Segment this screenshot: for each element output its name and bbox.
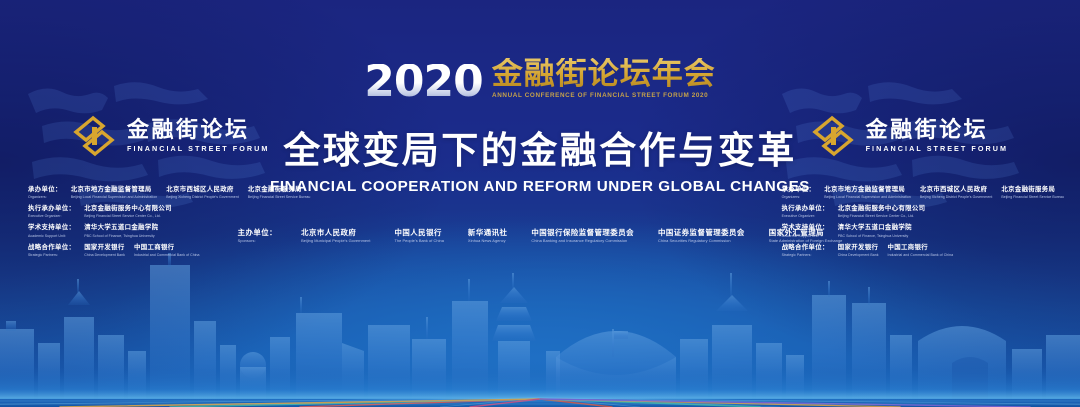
forum-name-cn: 金融街论坛 xyxy=(127,119,269,141)
credit-label-en: Academic Support Unit: xyxy=(28,234,66,238)
credit-entry-cn: 北京金融街服务中心有限公司 xyxy=(838,205,926,213)
credit-entry: 北京金融街服务局Beijing Financial Street Service… xyxy=(248,186,311,199)
credit-row: 战略合作单位：Strategic Partners:国家开发银行China De… xyxy=(28,244,310,257)
credit-label-cn: 承办单位： xyxy=(28,186,62,194)
credit-label-en: Sponsors: xyxy=(238,239,256,244)
credit-entry: 北京市西城区人民政府Beijing Xicheng District Peopl… xyxy=(166,186,239,199)
credit-entry-en: Beijing Xicheng District People's Govern… xyxy=(920,195,993,199)
credit-label-cn: 承办单位： xyxy=(782,186,816,194)
credit-entry-cn: 北京市人民政府 xyxy=(301,229,356,238)
credit-entry-cn: 北京市地方金融监督管理局 xyxy=(71,186,152,194)
credit-label-en: Executive Organizer: xyxy=(782,214,816,218)
event-header-lockup: 2020 金融街论坛年会 ANNUAL CONFERENCE OF FINANC… xyxy=(0,58,1080,100)
credit-entry-en: PBC School of Finance, Tsinghua Universi… xyxy=(838,234,909,238)
credit-entry-en: Beijing Financial Street Service Center … xyxy=(84,214,161,218)
credit-row-label: 承办单位：Organizers: xyxy=(782,186,816,199)
credit-row: 承办单位：Organizers:北京市地方金融监督管理局Beijing Loca… xyxy=(782,186,1064,199)
forum-logo-left: 金融街论坛 FINANCIAL STREET FORUM xyxy=(72,114,269,158)
forum-name-en: FINANCIAL STREET FORUM xyxy=(127,145,269,152)
credit-row-label: 战略合作单位：Strategic Partners: xyxy=(28,244,75,257)
credit-row: 承办单位：Organizers:北京市地方金融监督管理局Beijing Loca… xyxy=(28,186,310,199)
event-year: 2020 xyxy=(364,64,482,100)
credit-entry: 北京金融街服务中心有限公司Beijing Financial Street Se… xyxy=(84,205,172,218)
credit-entry-cn: 国家开发银行 xyxy=(84,244,124,252)
credit-label-cn: 学术支持单位： xyxy=(28,224,75,232)
event-title-en: ANNUAL CONFERENCE OF FINANCIAL STREET FO… xyxy=(492,93,708,99)
credit-entry: 国家开发银行China Development Bank xyxy=(838,244,879,257)
credit-entry: 北京市西城区人民政府Beijing Xicheng District Peopl… xyxy=(920,186,993,199)
credit-row-label: 学术支持单位：Academic Support Unit: xyxy=(28,224,75,237)
credit-label-en: Strategic Partners: xyxy=(782,253,812,257)
credits-block-center: 主办单位：Sponsors:北京市人民政府Beijing Municipal P… xyxy=(238,229,843,244)
credit-entry-cn: 北京金融街服务中心有限公司 xyxy=(84,205,172,213)
credit-label-en: Executive Organizer: xyxy=(28,214,62,218)
credit-entry-cn: 北京市西城区人民政府 xyxy=(166,186,233,194)
credit-entry-cn: 中国工商银行 xyxy=(134,244,174,252)
credit-entry-cn: 中国工商银行 xyxy=(888,244,928,252)
credit-row: 战略合作单位：Strategic Partners:国家开发银行China De… xyxy=(782,244,1064,257)
credit-entry-en: Xinhua News Agency xyxy=(468,239,506,244)
credit-row: 执行承办单位：Executive Organizer:北京金融街服务中心有限公司… xyxy=(782,205,1064,218)
forum-name-en: FINANCIAL STREET FORUM xyxy=(866,145,1008,152)
credit-row: 执行承办单位：Executive Organizer:北京金融街服务中心有限公司… xyxy=(28,205,310,218)
credit-entry: 清华大学五道口金融学院PBC School of Finance, Tsingh… xyxy=(84,224,158,237)
credits-block-left: 承办单位：Organizers:北京市地方金融监督管理局Beijing Loca… xyxy=(28,186,310,257)
credit-entry-en: China Banking and Insurance Regulatory C… xyxy=(531,239,627,244)
credit-entry-en: China Development Bank xyxy=(84,253,125,257)
credit-entry-en: China Securities Regulatory Commission xyxy=(658,239,731,244)
credit-row-label: 承办单位：Organizers: xyxy=(28,186,62,199)
credit-entry-cn: 北京市西城区人民政府 xyxy=(920,186,987,194)
credit-entry: 北京市人民政府Beijing Municipal People's Govern… xyxy=(301,229,370,244)
credits-block-right: 承办单位：Organizers:北京市地方金融监督管理局Beijing Loca… xyxy=(782,186,1064,257)
credit-label-cn: 战略合作单位： xyxy=(28,244,75,252)
credit-entry-en: Industrial and Commercial Bank of China xyxy=(888,253,954,257)
credit-entry-cn: 中国人民银行 xyxy=(395,229,442,238)
credit-entry: 中国工商银行Industrial and Commercial Bank of … xyxy=(134,244,200,257)
credit-row-label: 战略合作单位：Strategic Partners: xyxy=(782,244,829,257)
credit-label-en: Organizers: xyxy=(28,195,47,199)
credit-row-label: 执行承办单位：Executive Organizer: xyxy=(28,205,75,218)
credit-label-en: Strategic Partners: xyxy=(28,253,58,257)
credit-entry: 国家开发银行China Development Bank xyxy=(84,244,125,257)
forum-name-cn: 金融街论坛 xyxy=(866,119,1008,141)
credit-label-cn: 执行承办单位： xyxy=(28,205,75,213)
credit-entry: 中国证券监督管理委员会China Securities Regulatory C… xyxy=(658,229,745,244)
credit-entry-en: Beijing Financial Street Service Bureau xyxy=(248,195,311,199)
forum-logo-right: 金融街论坛 FINANCIAL STREET FORUM xyxy=(811,114,1008,158)
credit-entry-cn: 国家开发银行 xyxy=(838,244,878,252)
credit-entry: 北京金融街服务中心有限公司Beijing Financial Street Se… xyxy=(838,205,926,218)
credit-entry: 新华通讯社Xinhua News Agency xyxy=(468,229,507,244)
credit-entry-cn: 北京金融街服务局 xyxy=(248,186,302,194)
credit-entry-cn: 中国证券监督管理委员会 xyxy=(658,229,745,238)
credit-label-cn: 战略合作单位： xyxy=(782,244,829,252)
credit-entry: 国家外汇管理局State Administration of Foreign E… xyxy=(769,229,843,244)
credit-entry-cn: 清华大学五道口金融学院 xyxy=(84,224,158,232)
credit-entry: 中国人民银行The People's Bank of China xyxy=(395,229,444,244)
credit-entry-cn: 中国银行保险监督管理委员会 xyxy=(531,229,634,238)
credit-entry-en: PBC School of Finance, Tsinghua Universi… xyxy=(84,234,155,238)
credit-row-label: 主办单位：Sponsors: xyxy=(238,229,277,244)
credit-entry-en: Beijing Municipal People's Government xyxy=(301,239,370,244)
credit-row-label: 执行承办单位：Executive Organizer: xyxy=(782,205,829,218)
credit-entry: 北京市地方金融监督管理局Beijing Local Financial Supe… xyxy=(71,186,158,199)
credit-entry: 北京市地方金融监督管理局Beijing Local Financial Supe… xyxy=(824,186,911,199)
credit-entry: 北京金融街服务局Beijing Financial Street Service… xyxy=(1001,186,1064,199)
forum-s-mark-icon xyxy=(72,114,116,158)
credit-row: 主办单位：Sponsors:北京市人民政府Beijing Municipal P… xyxy=(238,229,843,244)
credit-label-en: Organizers: xyxy=(782,195,801,199)
event-title-cn: 金融街论坛年会 xyxy=(492,58,716,89)
credit-label-cn: 执行承办单位： xyxy=(782,205,829,213)
credit-entry-en: Beijing Local Financial Supervision and … xyxy=(824,195,911,199)
credit-entry-en: Beijing Local Financial Supervision and … xyxy=(71,195,158,199)
credit-entry-en: China Development Bank xyxy=(838,253,879,257)
credit-entry-cn: 新华通讯社 xyxy=(468,229,507,238)
credit-entry: 中国银行保险监督管理委员会China Banking and Insurance… xyxy=(531,229,634,244)
credit-entry-en: State Administration of Foreign Exchange xyxy=(769,239,843,244)
credit-entry-en: Beijing Financial Street Service Center … xyxy=(838,214,915,218)
credit-entry: 中国工商银行Industrial and Commercial Bank of … xyxy=(888,244,954,257)
credit-entry: 清华大学五道口金融学院PBC School of Finance, Tsingh… xyxy=(838,224,912,237)
credit-entry-cn: 北京市地方金融监督管理局 xyxy=(824,186,905,194)
credit-entry-cn: 北京金融街服务局 xyxy=(1001,186,1055,194)
credit-entry-en: Beijing Financial Street Service Bureau xyxy=(1001,195,1064,199)
credit-entry-en: The People's Bank of China xyxy=(395,239,444,244)
credit-entry-cn: 国家外汇管理局 xyxy=(769,229,824,238)
credit-label-cn: 主办单位： xyxy=(238,229,277,238)
credit-entry-en: Beijing Xicheng District People's Govern… xyxy=(166,195,239,199)
credit-entry-cn: 清华大学五道口金融学院 xyxy=(838,224,912,232)
credit-entry-en: Industrial and Commercial Bank of China xyxy=(134,253,200,257)
forum-s-mark-icon xyxy=(811,114,855,158)
